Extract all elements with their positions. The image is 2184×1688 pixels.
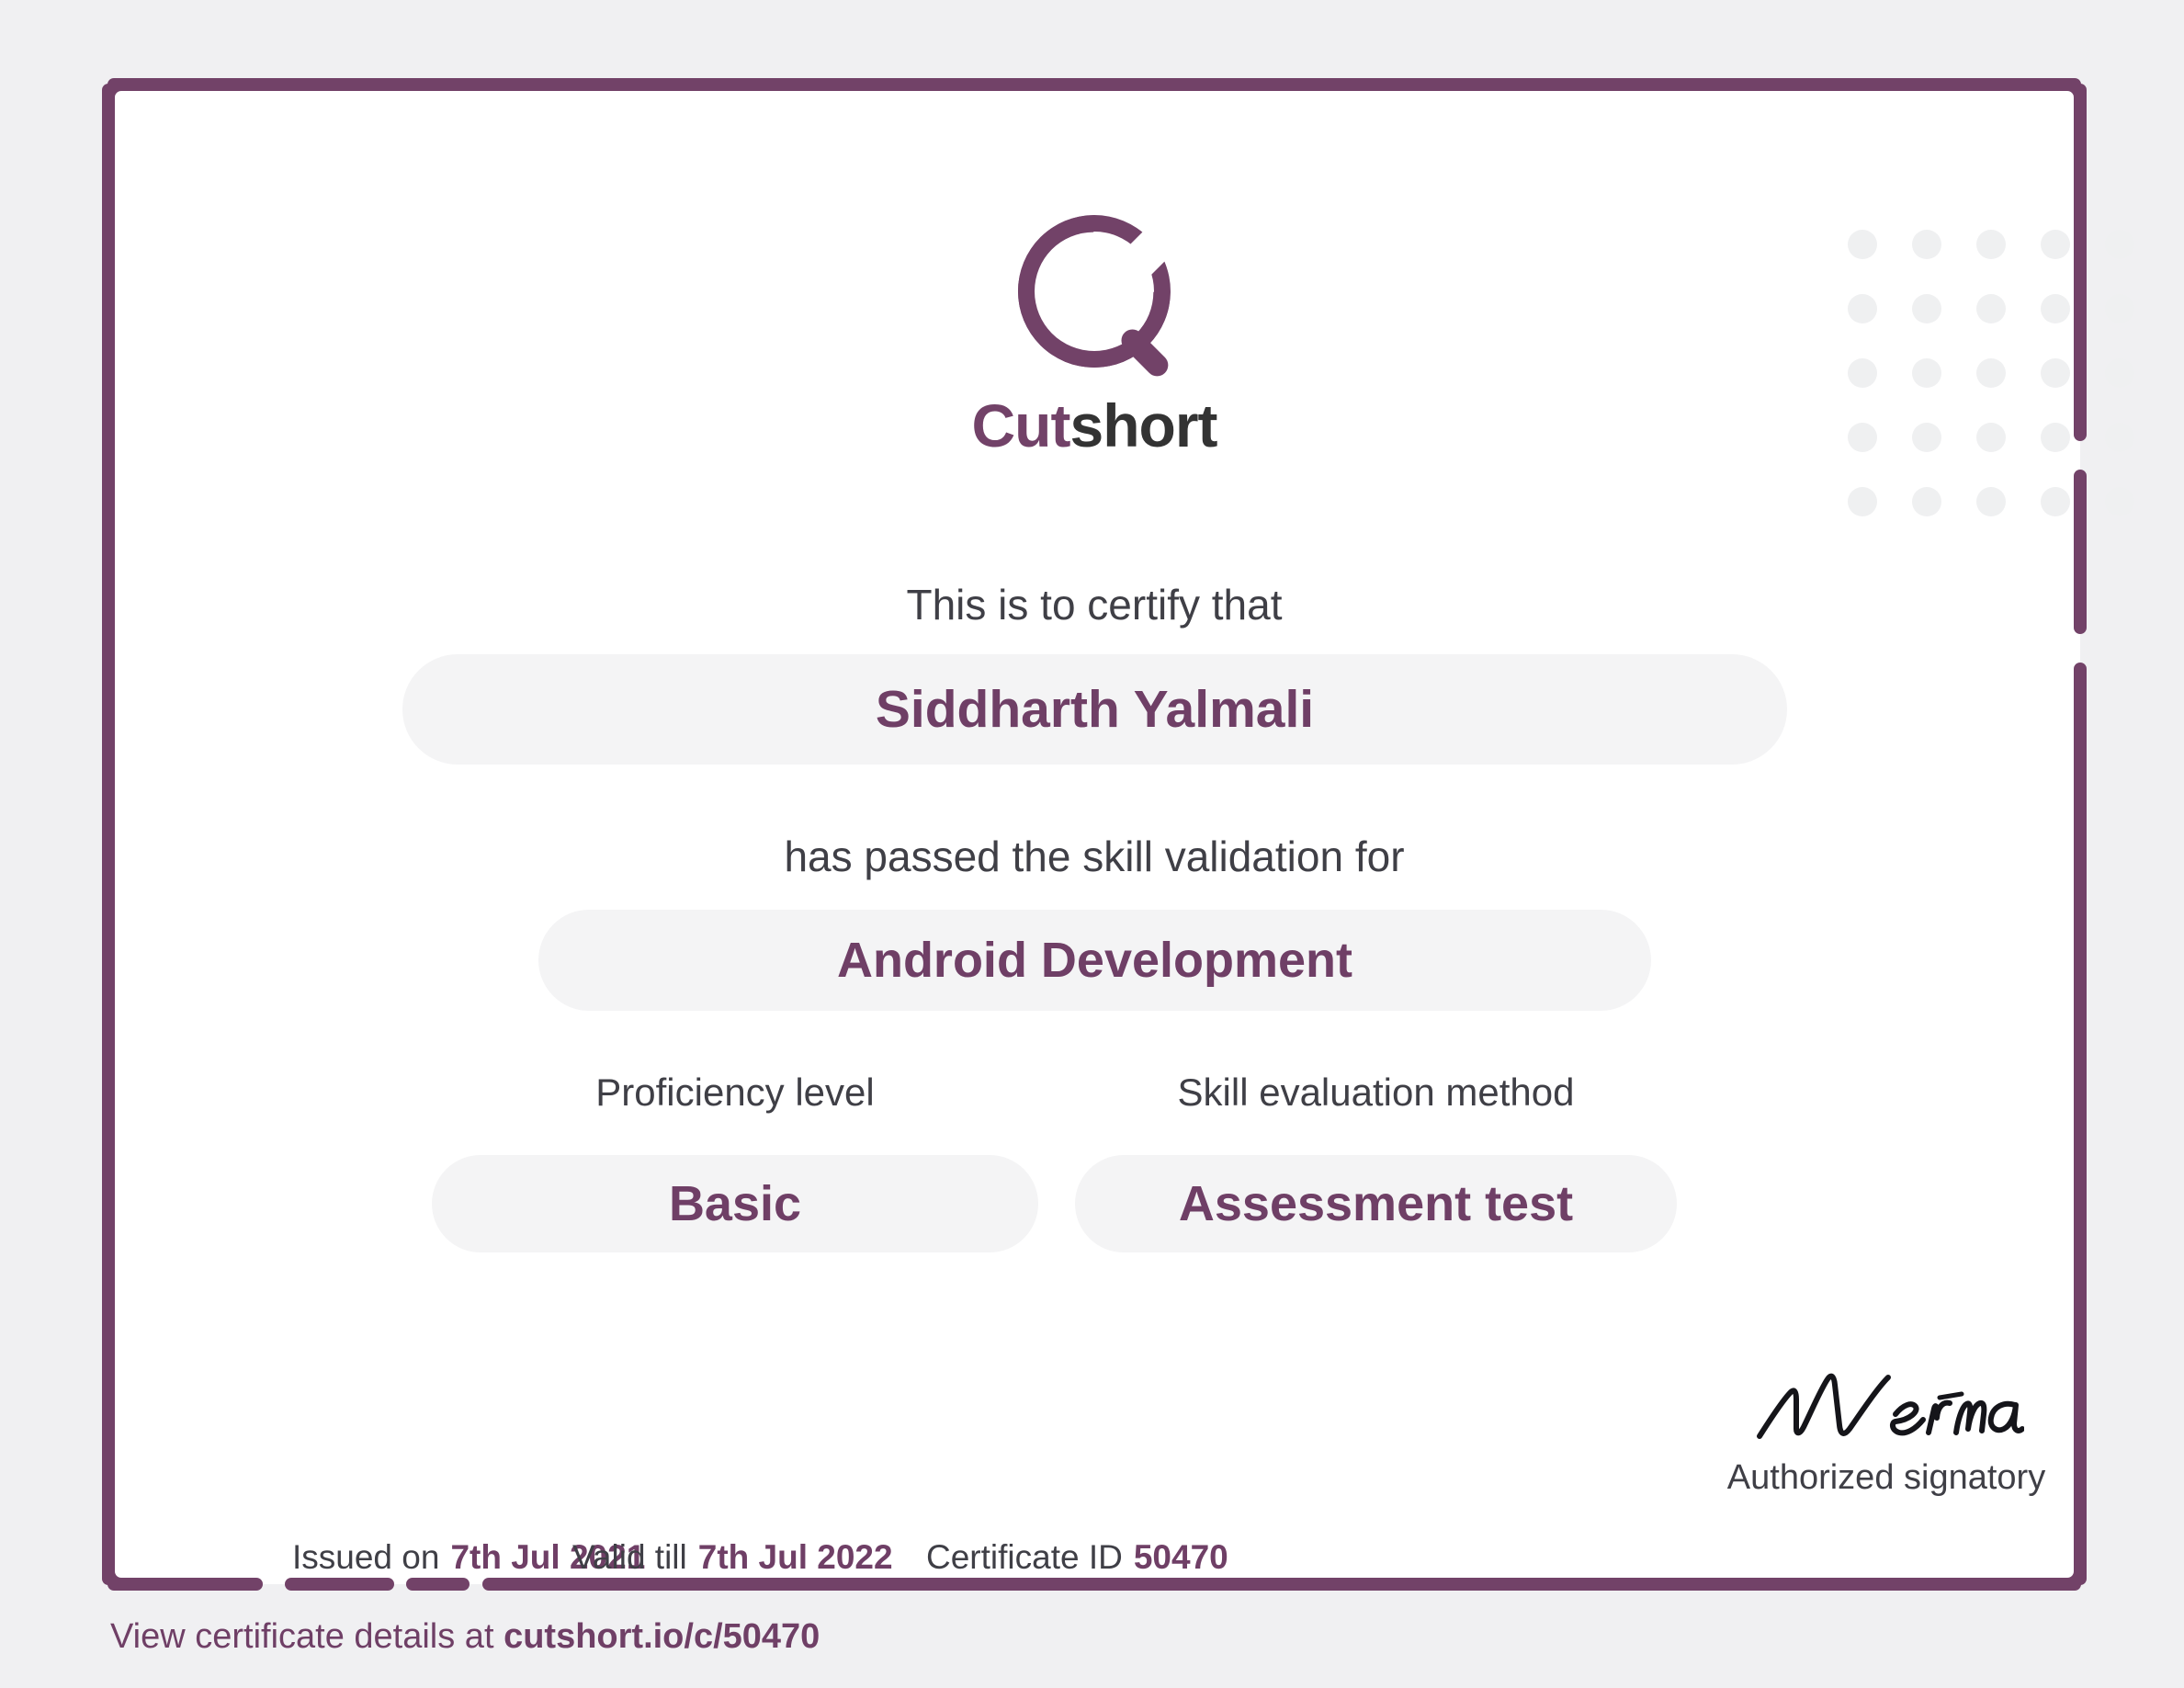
decorative-dot xyxy=(2041,487,2070,516)
certificate-card: Cutshort This is to certify that Siddhar… xyxy=(108,85,2080,1584)
issued-on-label: Issued on xyxy=(292,1538,439,1576)
decorative-dot xyxy=(2105,358,2134,388)
proficiency-level-value: Basic xyxy=(669,1175,801,1232)
decorative-dot xyxy=(1848,487,1877,516)
certificate-meta-row: Issued on7th Jul 2021 Valid till7th Jul … xyxy=(182,1538,1560,1588)
evaluation-method-value: Assessment test xyxy=(1179,1175,1573,1232)
view-certificate-details[interactable]: View certificate details at cutshort.io/… xyxy=(110,1617,820,1657)
lead-passed-text: has passed the skill validation for xyxy=(108,832,2080,881)
certificate-id-label: Certificate ID xyxy=(926,1538,1123,1576)
evaluation-method-pill: Assessment test xyxy=(1075,1155,1677,1252)
recipient-name: Siddharth Yalmali xyxy=(876,679,1314,740)
skill-name-pill: Android Development xyxy=(538,910,1651,1011)
certificate-id-value: 50470 xyxy=(1134,1538,1228,1576)
handwritten-signature-icon xyxy=(1748,1366,2024,1451)
authorized-signatory-caption: Authorized signatory xyxy=(1680,1458,2093,1498)
valid-till-item: Valid till7th Jul 2022 xyxy=(572,1538,893,1577)
recipient-name-pill: Siddharth Yalmali xyxy=(402,654,1787,765)
certificate-page: Cutshort This is to certify that Siddhar… xyxy=(0,0,2184,1688)
decorative-dot xyxy=(2105,230,2134,259)
wordmark-cut: Cut xyxy=(972,391,1070,459)
brand-wordmark: Cutshort xyxy=(108,395,2080,456)
wordmark-short: short xyxy=(1069,391,1216,459)
view-details-url[interactable]: cutshort.io/c/50470 xyxy=(504,1617,820,1656)
decorative-dot xyxy=(2105,423,2134,452)
proficiency-level-label: Proficiency level xyxy=(432,1071,1038,1115)
brand-logo-block: Cutshort xyxy=(108,204,2080,456)
decorative-dot xyxy=(1976,487,2006,516)
view-details-prefix: View certificate details at xyxy=(110,1617,494,1656)
proficiency-level-pill: Basic xyxy=(432,1155,1038,1252)
cutshort-c-magnifier-logo-icon xyxy=(1007,204,1182,379)
valid-till-value: 7th Jul 2022 xyxy=(698,1538,893,1576)
certificate-id-item: Certificate ID50470 xyxy=(926,1538,1228,1577)
signature-block: Authorized signatory xyxy=(1680,1366,2093,1498)
decorative-dot xyxy=(2105,294,2134,323)
valid-till-label: Valid till xyxy=(572,1538,687,1576)
decorative-dot xyxy=(2105,487,2134,516)
lead-certify-text: This is to certify that xyxy=(108,580,2080,629)
skill-name: Android Development xyxy=(837,932,1352,989)
decorative-dot xyxy=(1912,487,1941,516)
evaluation-method-label: Skill evaluation method xyxy=(1075,1071,1677,1115)
